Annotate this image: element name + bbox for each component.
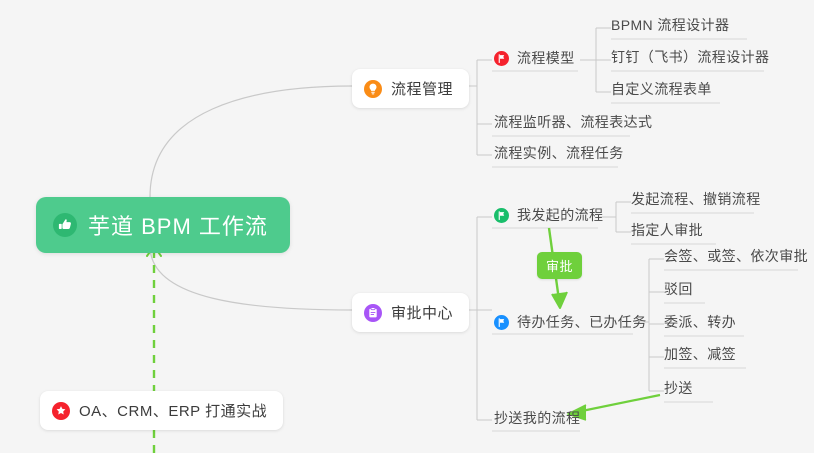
branch-label: 审批中心 (391, 302, 453, 323)
leaf-label: 发起流程、撤销流程 (631, 189, 761, 209)
approve-badge-label: 审批 (546, 256, 573, 275)
leaf-assignee-approval[interactable]: 指定人审批 (627, 218, 711, 244)
leaf-delegate-transfer[interactable]: 委派、转办 (660, 310, 744, 336)
leaf-label: 自定义流程表单 (611, 79, 712, 99)
leaf-label: BPMN 流程设计器 (611, 15, 729, 35)
clipboard-icon (364, 304, 382, 322)
node-label: 我发起的流程 (517, 205, 603, 225)
flag-blue-icon (494, 315, 509, 330)
node-todo-done-tasks[interactable]: 待办任务、已办任务 (492, 310, 653, 335)
leaf-add-remove-sign[interactable]: 加签、减签 (660, 342, 744, 368)
leaf-countersign[interactable]: 会签、或签、依次审批 (660, 244, 814, 270)
leaf-label: 驳回 (664, 279, 693, 299)
node-label: 流程模型 (517, 48, 575, 68)
node-process-model[interactable]: 流程模型 (492, 46, 581, 71)
footer-node-oa-crm-erp[interactable]: OA、CRM、ERP 打通实战 (40, 391, 283, 430)
leaf-label: 加签、减签 (664, 344, 736, 364)
leaf-label: 指定人审批 (631, 220, 703, 240)
node-label: 待办任务、已办任务 (517, 312, 647, 332)
footer-node-label: OA、CRM、ERP 打通实战 (79, 400, 267, 421)
leaf-label: 流程实例、流程任务 (494, 143, 624, 163)
leaf-custom-form[interactable]: 自定义流程表单 (607, 77, 720, 103)
mindmap-canvas: 芋道 BPM 工作流 流程管理 流程模型 BPMN 流程设计器 钉钉（飞书）流程 (0, 0, 814, 453)
leaf-label: 抄送 (664, 378, 693, 398)
leaf-bpmn-designer[interactable]: BPMN 流程设计器 (607, 13, 737, 39)
leaf-dingtalk-designer[interactable]: 钉钉（飞书）流程设计器 (607, 45, 777, 71)
leaf-reject[interactable]: 驳回 (660, 277, 701, 303)
branch-process-management[interactable]: 流程管理 (352, 69, 469, 108)
flag-green-icon (494, 208, 509, 223)
leaf-cc[interactable]: 抄送 (660, 376, 701, 402)
leaf-process-instance[interactable]: 流程实例、流程任务 (490, 141, 632, 167)
leaf-label: 抄送我的流程 (494, 408, 580, 428)
leaf-label: 钉钉（飞书）流程设计器 (611, 47, 769, 67)
root-node[interactable]: 芋道 BPM 工作流 (36, 197, 290, 253)
leaf-process-listener[interactable]: 流程监听器、流程表达式 (490, 110, 660, 136)
flag-red-icon (494, 51, 509, 66)
root-label: 芋道 BPM 工作流 (88, 209, 268, 241)
leaf-cc-to-me[interactable]: 抄送我的流程 (490, 406, 588, 432)
lightbulb-icon (364, 80, 382, 98)
node-my-initiated[interactable]: 我发起的流程 (492, 203, 609, 228)
leaf-label: 会签、或签、依次审批 (664, 246, 808, 266)
thumbs-up-icon (52, 212, 78, 238)
leaf-label: 委派、转办 (664, 312, 736, 332)
approve-badge: 审批 (537, 252, 582, 279)
leaf-label: 流程监听器、流程表达式 (494, 112, 652, 132)
branch-label: 流程管理 (391, 78, 453, 99)
branch-approval-center[interactable]: 审批中心 (352, 293, 469, 332)
star-icon (52, 402, 70, 420)
leaf-start-cancel-process[interactable]: 发起流程、撤销流程 (627, 187, 769, 213)
